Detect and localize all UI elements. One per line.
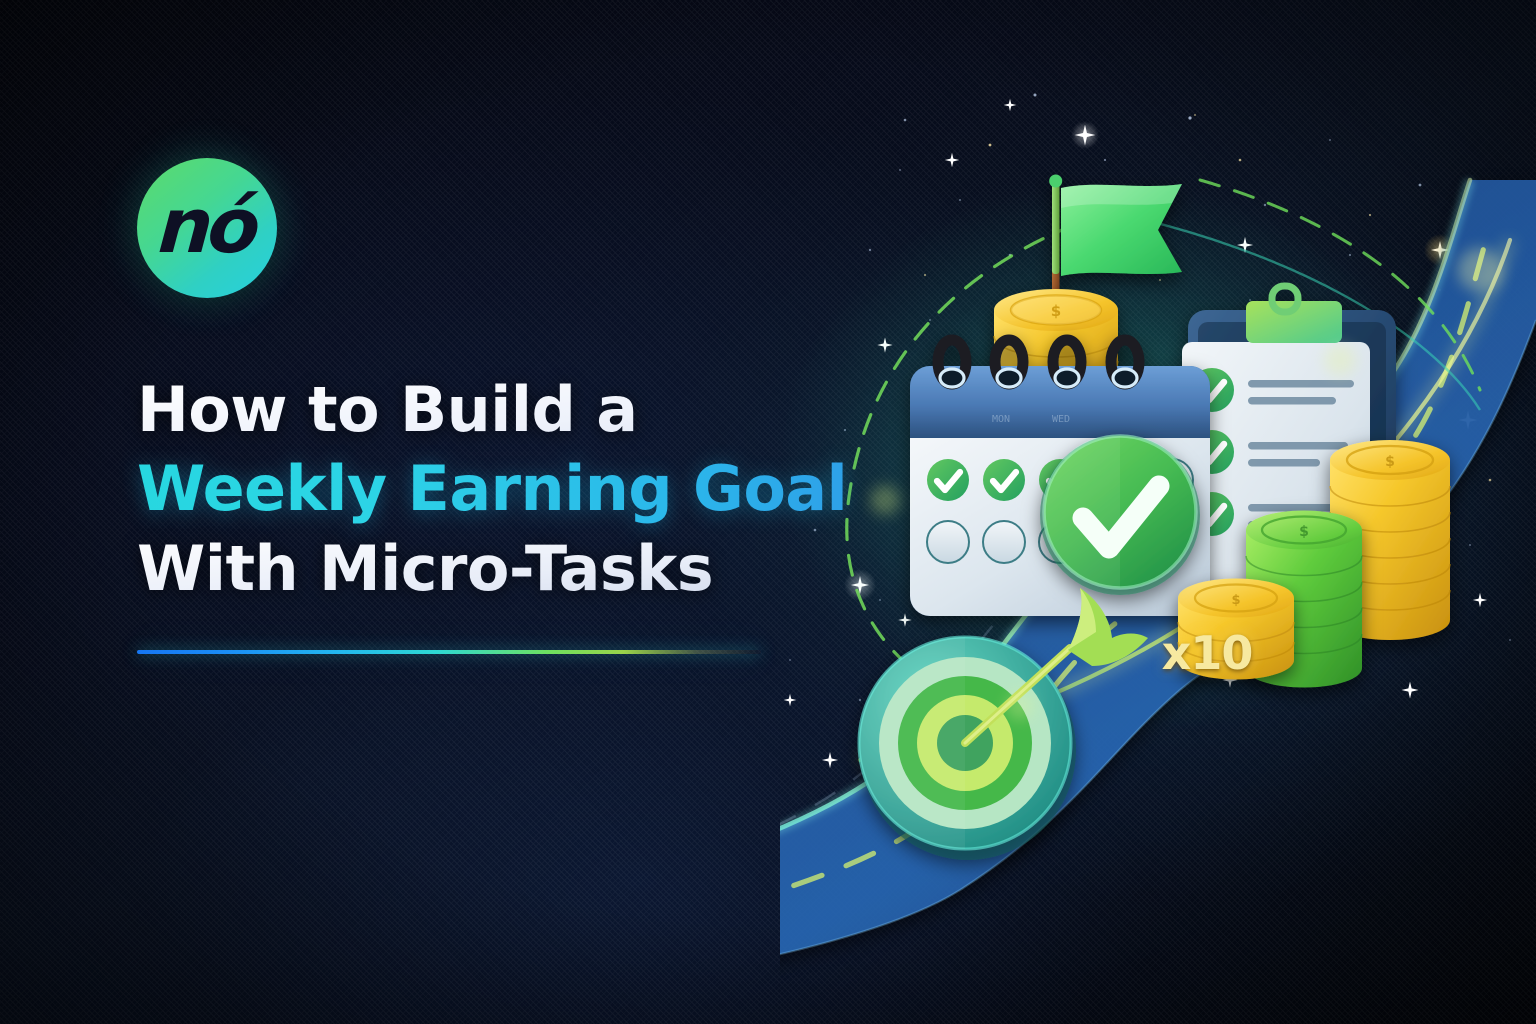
brand-logo-glyph: nó [156, 188, 258, 264]
svg-text:WED: WED [1052, 414, 1070, 425]
svg-text:$: $ [1385, 454, 1395, 470]
headline-line-3: With Micro-Tasks [137, 529, 897, 608]
accent-divider [137, 650, 761, 654]
svg-text:$: $ [1051, 302, 1061, 320]
page-title: How to Build a Weekly Earning Goal With … [137, 370, 897, 608]
coin-multiplier-text: x10 [1162, 626, 1253, 680]
big-check-badge [1040, 435, 1200, 595]
brand-logo[interactable]: nó [137, 158, 277, 298]
headline-line-2: Weekly Earning Goal [137, 449, 897, 528]
svg-text:$: $ [1231, 593, 1240, 608]
headline-line-1: How to Build a [137, 370, 897, 449]
hero-banner: $ [0, 0, 1536, 1024]
coin-multiplier-label: x10 [1132, 626, 1282, 680]
svg-text:MON: MON [992, 414, 1010, 425]
hero-content: nó How to Build a Weekly Earning Goal Wi… [137, 158, 897, 654]
svg-text:$: $ [1299, 524, 1309, 540]
